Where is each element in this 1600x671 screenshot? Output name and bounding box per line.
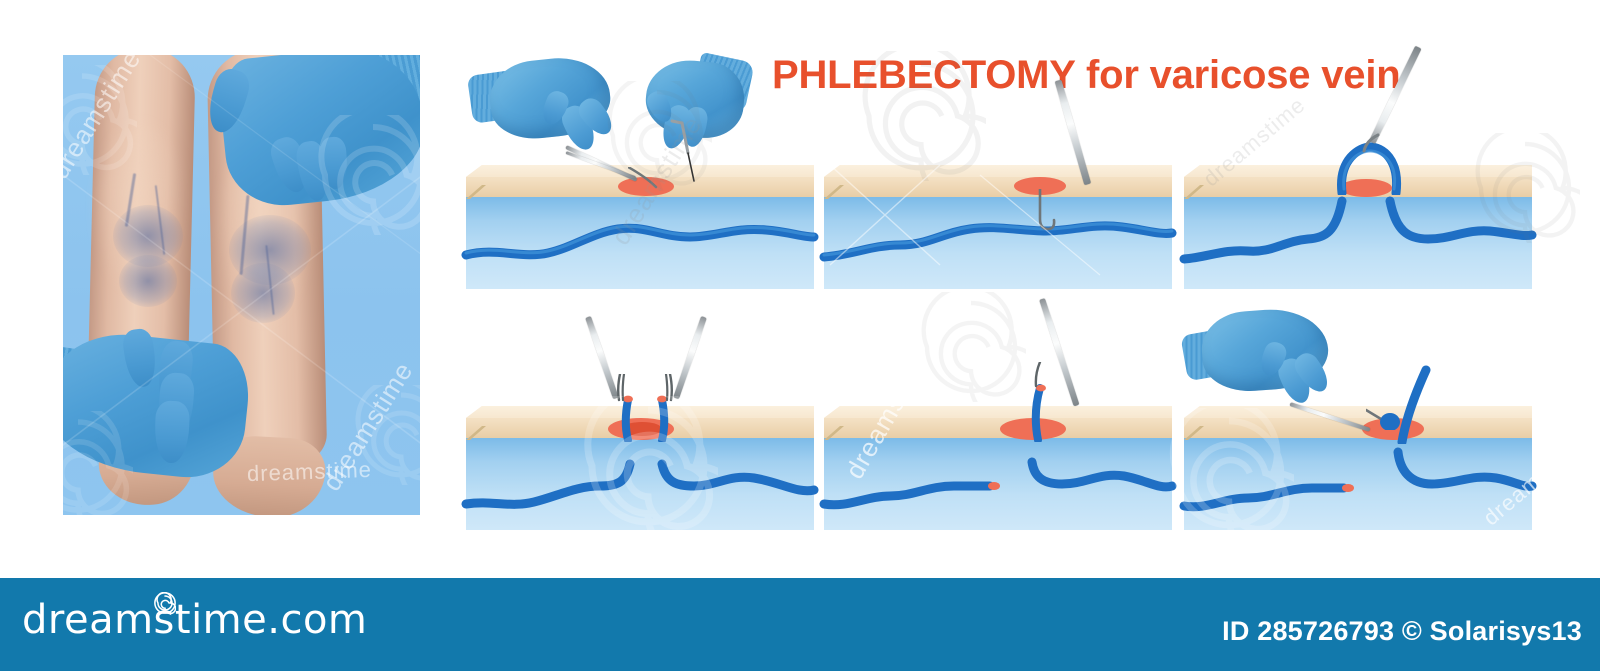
forceps-tip bbox=[1026, 362, 1048, 388]
step-hook-insertion bbox=[820, 45, 1175, 295]
step-incision: dreamstime bbox=[462, 45, 817, 295]
step-vein-removal: dreamstime bbox=[1180, 300, 1535, 550]
gloved-hand bbox=[1184, 306, 1344, 418]
tissue-block bbox=[824, 165, 1172, 295]
varicose-vein-remaining bbox=[1184, 438, 1532, 530]
hook-tip bbox=[1028, 189, 1058, 239]
stock-footer-bar: dreamstime.com ID 285726793 © Solarisys1… bbox=[0, 578, 1600, 671]
step-vein-hooked: dreamstime bbox=[1180, 45, 1535, 295]
varicose-cluster-left-2 bbox=[119, 255, 177, 307]
varicose-vein bbox=[1184, 197, 1532, 289]
tissue-block bbox=[466, 406, 814, 536]
forceps-right-tip bbox=[658, 374, 678, 402]
forceps-tip-grasping-vein bbox=[1366, 400, 1400, 430]
varicose-vein bbox=[824, 197, 1172, 289]
varicose-vein bbox=[466, 197, 814, 289]
varicose-vein-retracted bbox=[824, 438, 1172, 530]
spiral-icon bbox=[856, 51, 986, 181]
image-credit: ID 285726793 © Solarisys13 bbox=[1222, 616, 1582, 647]
gloved-hand-left bbox=[470, 53, 640, 173]
spiral-icon bbox=[916, 292, 1026, 402]
hook-tip bbox=[1358, 133, 1388, 157]
vein-end-cap bbox=[1342, 484, 1354, 492]
micro-blade-instrument bbox=[666, 119, 714, 189]
skin-surface bbox=[824, 165, 1172, 179]
stock-photo-canvas: dreamstime dreamstime dreamstime PHLEBEC… bbox=[0, 0, 1600, 671]
varicose-vein-proximal bbox=[466, 438, 814, 530]
varicose-veins-legs-photo: dreamstime dreamstime dreamstime bbox=[63, 55, 420, 515]
forceps-left-tip bbox=[612, 374, 632, 402]
tissue-block bbox=[824, 406, 1172, 536]
step-vein-divided bbox=[462, 300, 817, 550]
skin-surface bbox=[824, 406, 1172, 420]
dreamstime-logo[interactable]: dreamstime.com bbox=[22, 600, 367, 640]
tissue-block bbox=[1184, 165, 1532, 295]
forceps-right bbox=[673, 316, 707, 399]
forceps-tip bbox=[628, 167, 662, 193]
vein-end-cap bbox=[988, 482, 1000, 490]
phlebectomy-hook-shaft bbox=[1369, 46, 1422, 144]
vein-bundle bbox=[1380, 413, 1400, 430]
step-vein-traction: dreamstime bbox=[820, 300, 1175, 550]
spiral-icon bbox=[154, 592, 176, 614]
vein-pulled-segment bbox=[1022, 384, 1062, 442]
